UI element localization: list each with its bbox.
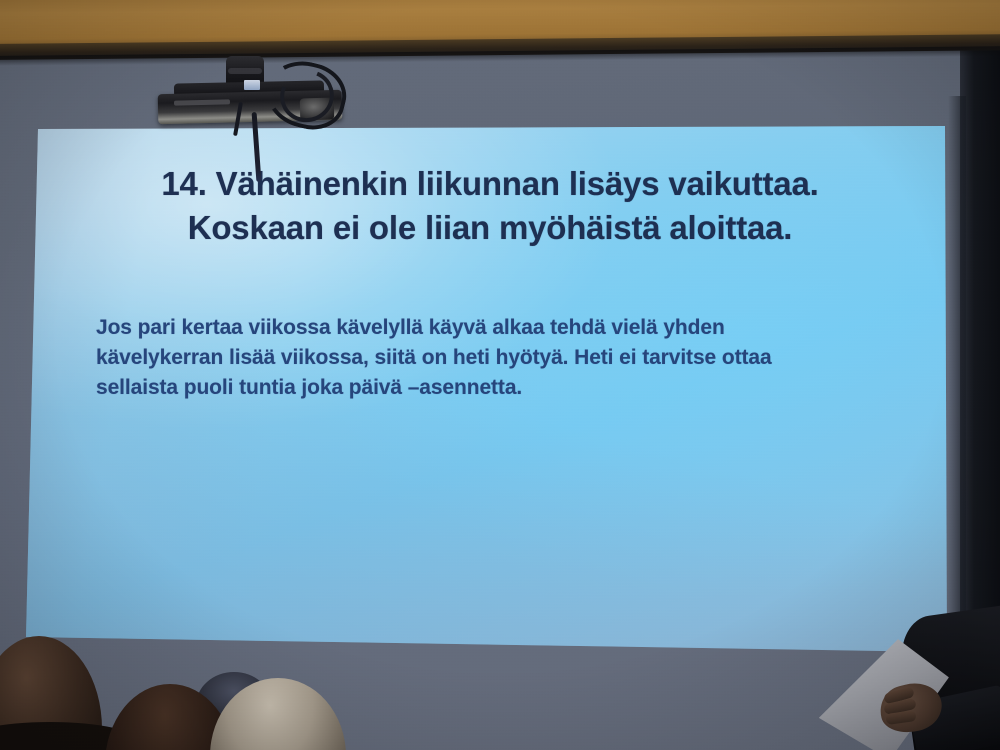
slide-title: 14. Vähäinenkin liikunnan lisäys vaikutt… — [95, 162, 885, 249]
projector-mount-ring — [228, 68, 262, 74]
photo-scene: 14. Vähäinenkin liikunnan lisäys vaikutt… — [0, 0, 1000, 750]
projection-screen-area: 14. Vähäinenkin liikunnan lisäys vaikutt… — [0, 0, 1000, 750]
slide-content: 14. Vähäinenkin liikunnan lisäys vaikutt… — [60, 140, 920, 640]
slide-body-text: Jos pari kertaa viikossa kävelyllä käyvä… — [96, 313, 826, 402]
projector-label-sticker — [244, 80, 260, 90]
ceiling-projector — [158, 66, 354, 128]
